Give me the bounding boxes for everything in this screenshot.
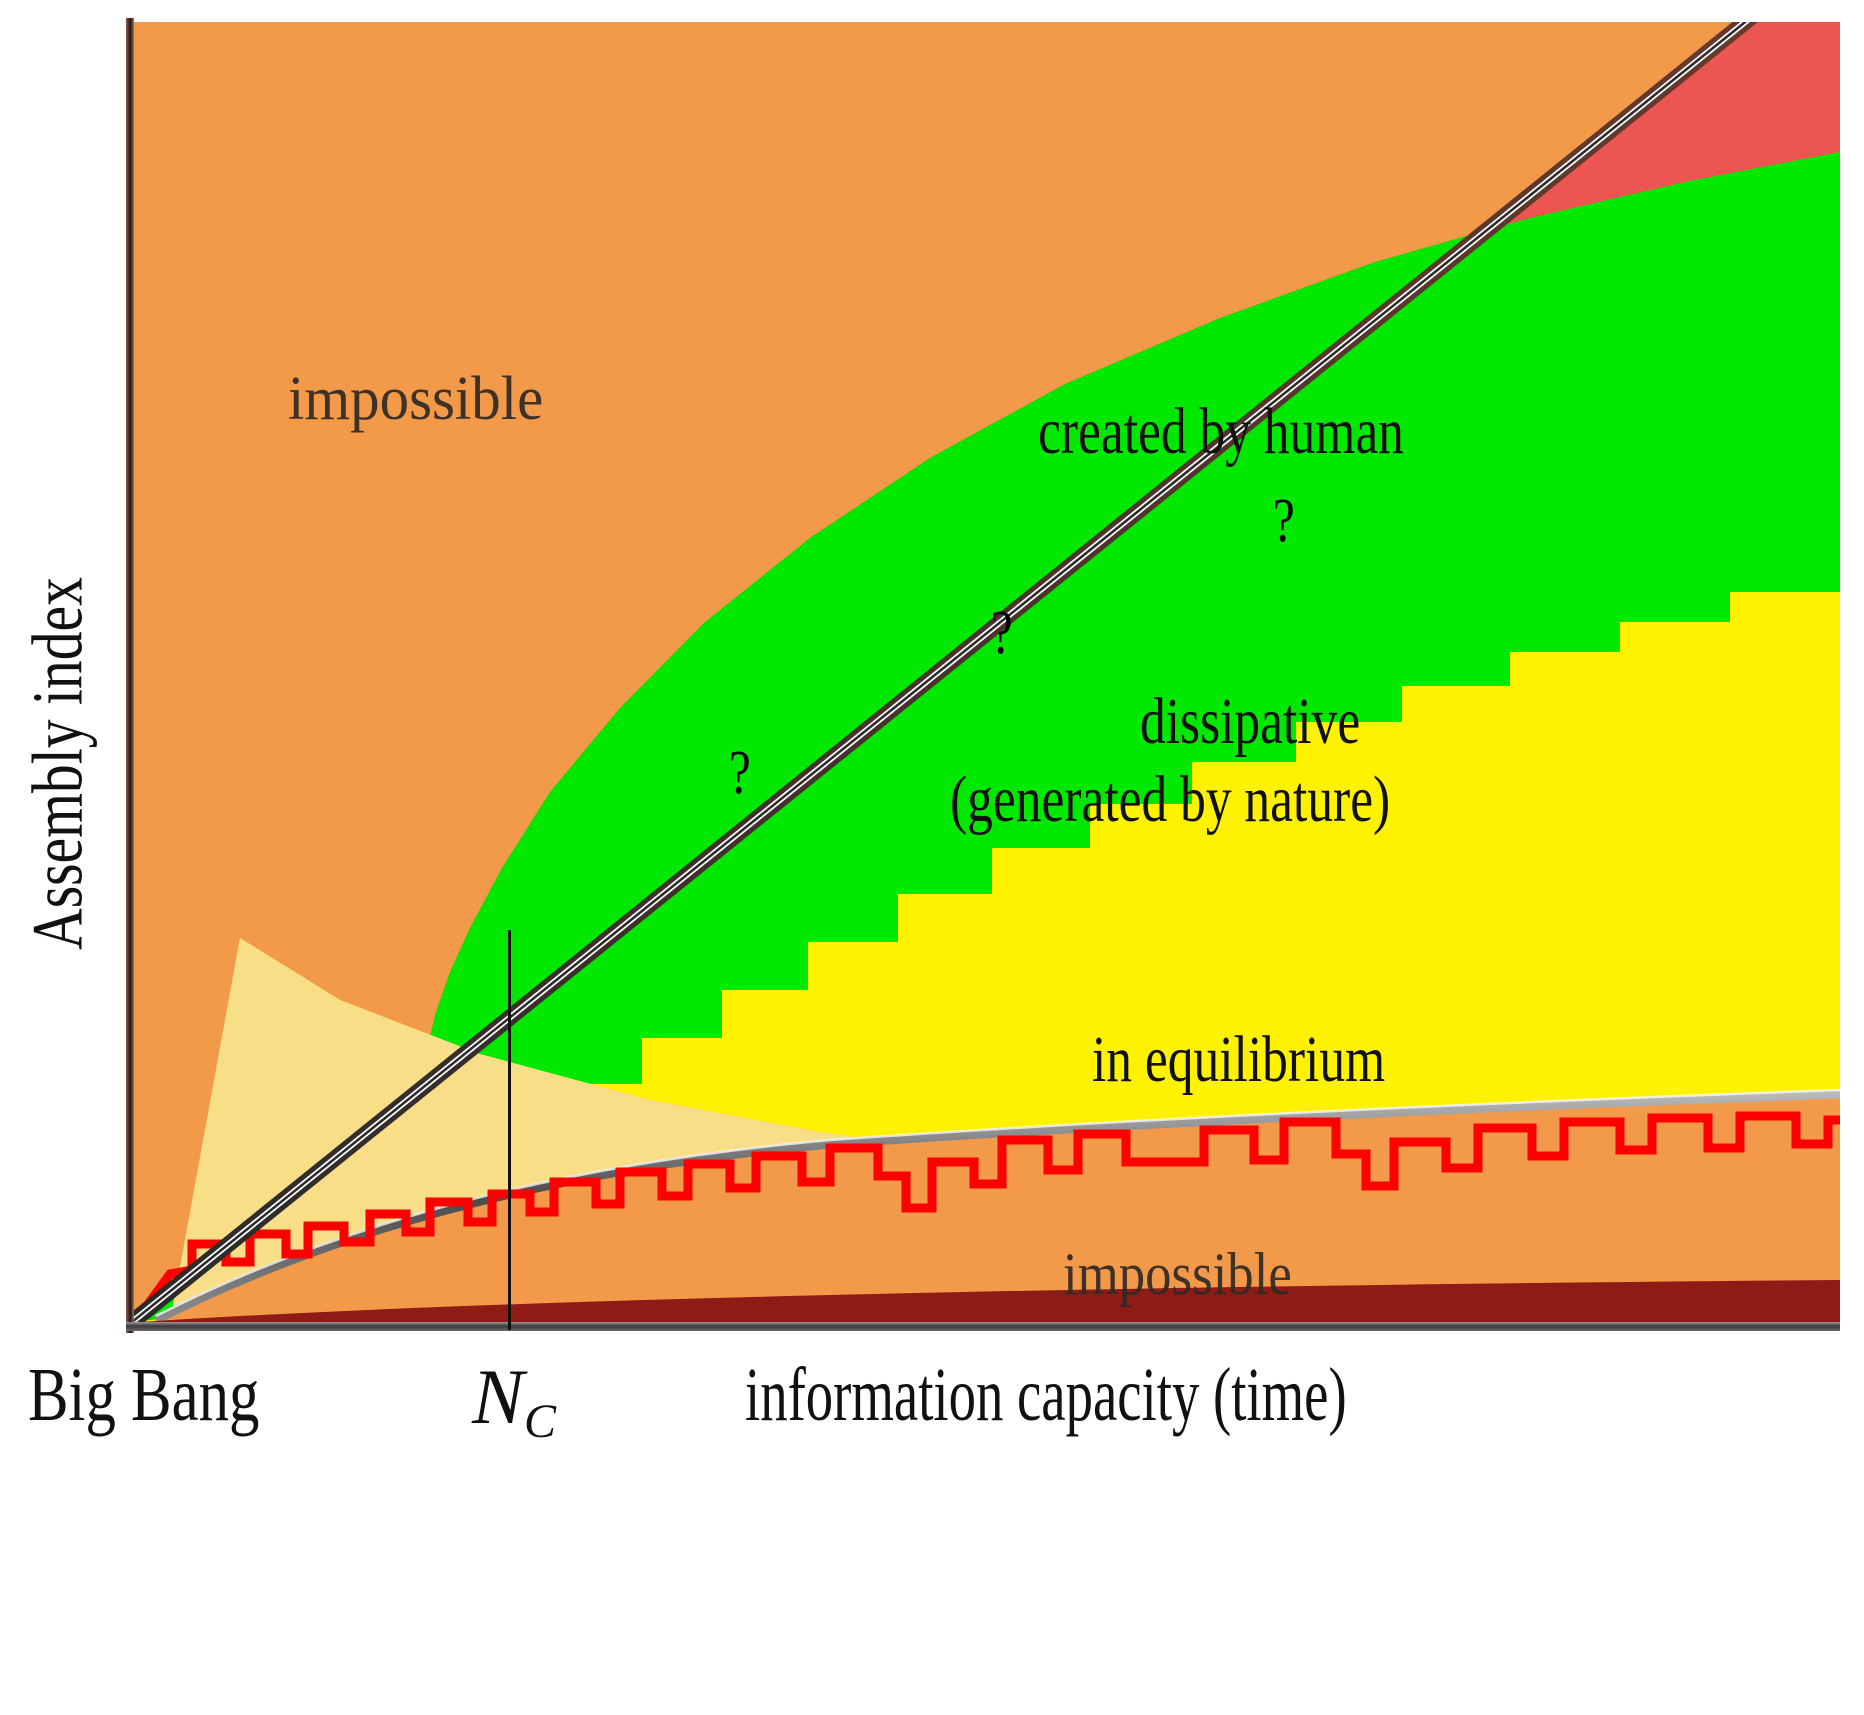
x-axis-line [126,1322,1840,1331]
region-label-generated-by-nature: (generated by nature) [950,762,1390,838]
question-mark-annotation-2: ? [991,602,1013,664]
nc-tick-subscript: C [524,1395,556,1448]
y-axis-line [126,18,134,1333]
nc-tick-line [508,930,511,1330]
assembly-index-phase-diagram: impossible created by human dissipative … [0,0,1864,1715]
question-mark-annotation-1: ? [729,742,751,804]
nc-tick-label: NC [472,1352,556,1449]
nc-tick-letter: N [472,1353,524,1440]
x-axis-origin-tick-label: Big Bang [28,1352,259,1439]
region-shapes [130,22,1840,1322]
y-axis-title: Assembly index [17,508,100,1020]
region-label-dissipative: dissipative [1140,684,1360,760]
region-label-created-by-human: created by human [1038,394,1404,470]
region-label-in-equilibrium: in equilibrium [1092,1022,1385,1098]
plot-area [130,22,1840,1322]
x-axis-title: information capacity (time) [745,1352,1347,1439]
question-mark-annotation-3: ? [1273,490,1295,552]
region-label-impossible-top: impossible [288,364,543,435]
region-label-impossible-bottom: impossible [1063,1240,1292,1309]
